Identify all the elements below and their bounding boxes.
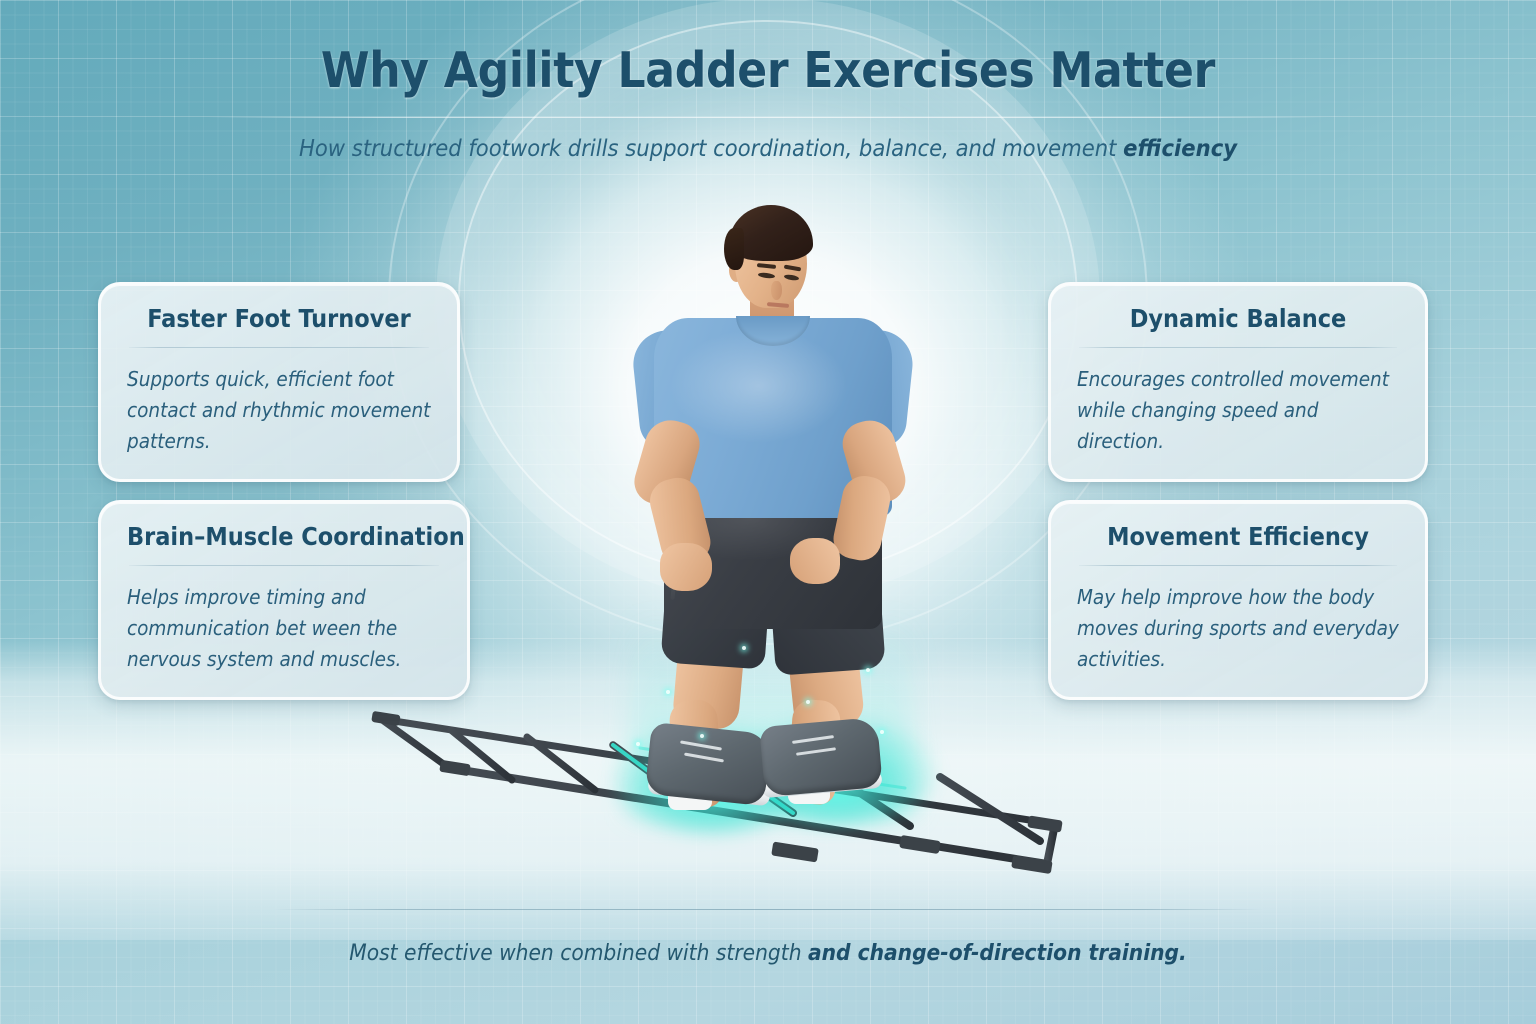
hair-sideburn bbox=[724, 228, 744, 270]
card-divider bbox=[129, 565, 439, 566]
benefit-card-brain-muscle-coordination[interactable]: Brain–Muscle Coordination Helps improve … bbox=[98, 500, 470, 700]
energy-spark bbox=[806, 700, 810, 704]
energy-spark bbox=[866, 668, 870, 672]
card-divider bbox=[1079, 347, 1397, 348]
card-title: Movement Efficiency bbox=[1077, 523, 1399, 552]
card-title: Dynamic Balance bbox=[1077, 305, 1399, 334]
left-eyebrow bbox=[757, 263, 776, 269]
footer-lead-text: Most effective when combined with streng… bbox=[349, 940, 808, 966]
right-eye bbox=[784, 274, 800, 282]
energy-spark bbox=[666, 690, 670, 694]
energy-spark bbox=[880, 730, 884, 734]
neck bbox=[750, 296, 794, 332]
right-shoe-lace-1 bbox=[792, 735, 834, 744]
energy-spark bbox=[742, 646, 746, 650]
energy-spark bbox=[636, 742, 640, 746]
subtitle-accent-text: efficiency bbox=[1123, 134, 1237, 162]
head bbox=[735, 216, 807, 308]
infographic-poster: Why Agility Ladder Exercises Matter How … bbox=[0, 0, 1536, 1024]
athletic-shorts bbox=[664, 487, 882, 629]
right-shoe bbox=[759, 717, 883, 797]
title-divider bbox=[208, 117, 1328, 118]
right-foot-glow bbox=[736, 716, 936, 826]
card-body-text: Helps improve timing and communication b… bbox=[127, 582, 441, 675]
card-title: Faster Foot Turnover bbox=[127, 305, 431, 334]
right-shoe-sole bbox=[761, 770, 882, 798]
right-fist bbox=[790, 538, 840, 584]
right-thigh bbox=[785, 619, 866, 732]
footer-note: Most effective when combined with streng… bbox=[0, 940, 1536, 966]
subtitle-lead-text: How structured footwork drills support c… bbox=[299, 134, 1123, 162]
left-foot-glow bbox=[612, 724, 812, 834]
ear bbox=[729, 258, 744, 282]
nose bbox=[771, 281, 782, 300]
left-eye bbox=[758, 272, 775, 279]
right-shoe-lace-2 bbox=[796, 747, 836, 756]
left-shin bbox=[668, 698, 723, 809]
left-upper-arm bbox=[629, 414, 705, 512]
footer-accent-text: and change-of-direction training. bbox=[808, 940, 1187, 966]
left-shoe-lace-1 bbox=[680, 740, 722, 750]
left-shoe-lace-2 bbox=[684, 753, 724, 763]
left-sleeve bbox=[630, 326, 716, 451]
left-short-leg bbox=[660, 557, 771, 670]
left-sock bbox=[668, 784, 712, 810]
benefit-card-dynamic-balance[interactable]: Dynamic Balance Encourages controlled mo… bbox=[1048, 282, 1428, 482]
right-sock bbox=[788, 778, 830, 804]
page-title: Why Agility Ladder Exercises Matter bbox=[0, 42, 1536, 99]
page-subtitle: How structured footwork drills support c… bbox=[0, 134, 1536, 162]
shorts-side-seam bbox=[670, 492, 685, 600]
right-shin bbox=[786, 698, 841, 805]
card-body-text: May help improve how the body moves duri… bbox=[1077, 582, 1399, 675]
card-body-text: Encourages controlled movement while cha… bbox=[1077, 364, 1399, 457]
mouth bbox=[767, 302, 789, 308]
energy-column-glow bbox=[632, 612, 912, 812]
right-short-leg bbox=[768, 556, 886, 675]
benefit-card-faster-foot-turnover[interactable]: Faster Foot Turnover Supports quick, eff… bbox=[98, 282, 460, 482]
poster-header: Why Agility Ladder Exercises Matter How … bbox=[0, 42, 1536, 162]
card-divider bbox=[129, 347, 429, 348]
benefit-card-movement-efficiency[interactable]: Movement Efficiency May help improve how… bbox=[1048, 500, 1428, 700]
poster-footer: Most effective when combined with streng… bbox=[0, 909, 1536, 966]
left-fist bbox=[660, 543, 712, 591]
hair bbox=[729, 205, 813, 261]
energy-spark bbox=[700, 734, 704, 738]
shirt-collar bbox=[736, 316, 810, 346]
left-thigh bbox=[672, 621, 747, 730]
card-body-text: Supports quick, efficient foot contact a… bbox=[127, 364, 431, 457]
right-forearm bbox=[830, 472, 894, 564]
right-upper-arm bbox=[837, 414, 910, 509]
right-eyebrow bbox=[784, 265, 801, 272]
left-shoe bbox=[645, 722, 772, 806]
t-shirt bbox=[654, 318, 892, 518]
card-divider bbox=[1079, 565, 1397, 566]
right-sleeve bbox=[832, 327, 916, 450]
left-shoe-sole bbox=[647, 776, 770, 807]
footer-divider bbox=[273, 909, 1263, 910]
card-title: Brain–Muscle Coordination bbox=[127, 523, 441, 552]
left-forearm bbox=[645, 473, 714, 569]
